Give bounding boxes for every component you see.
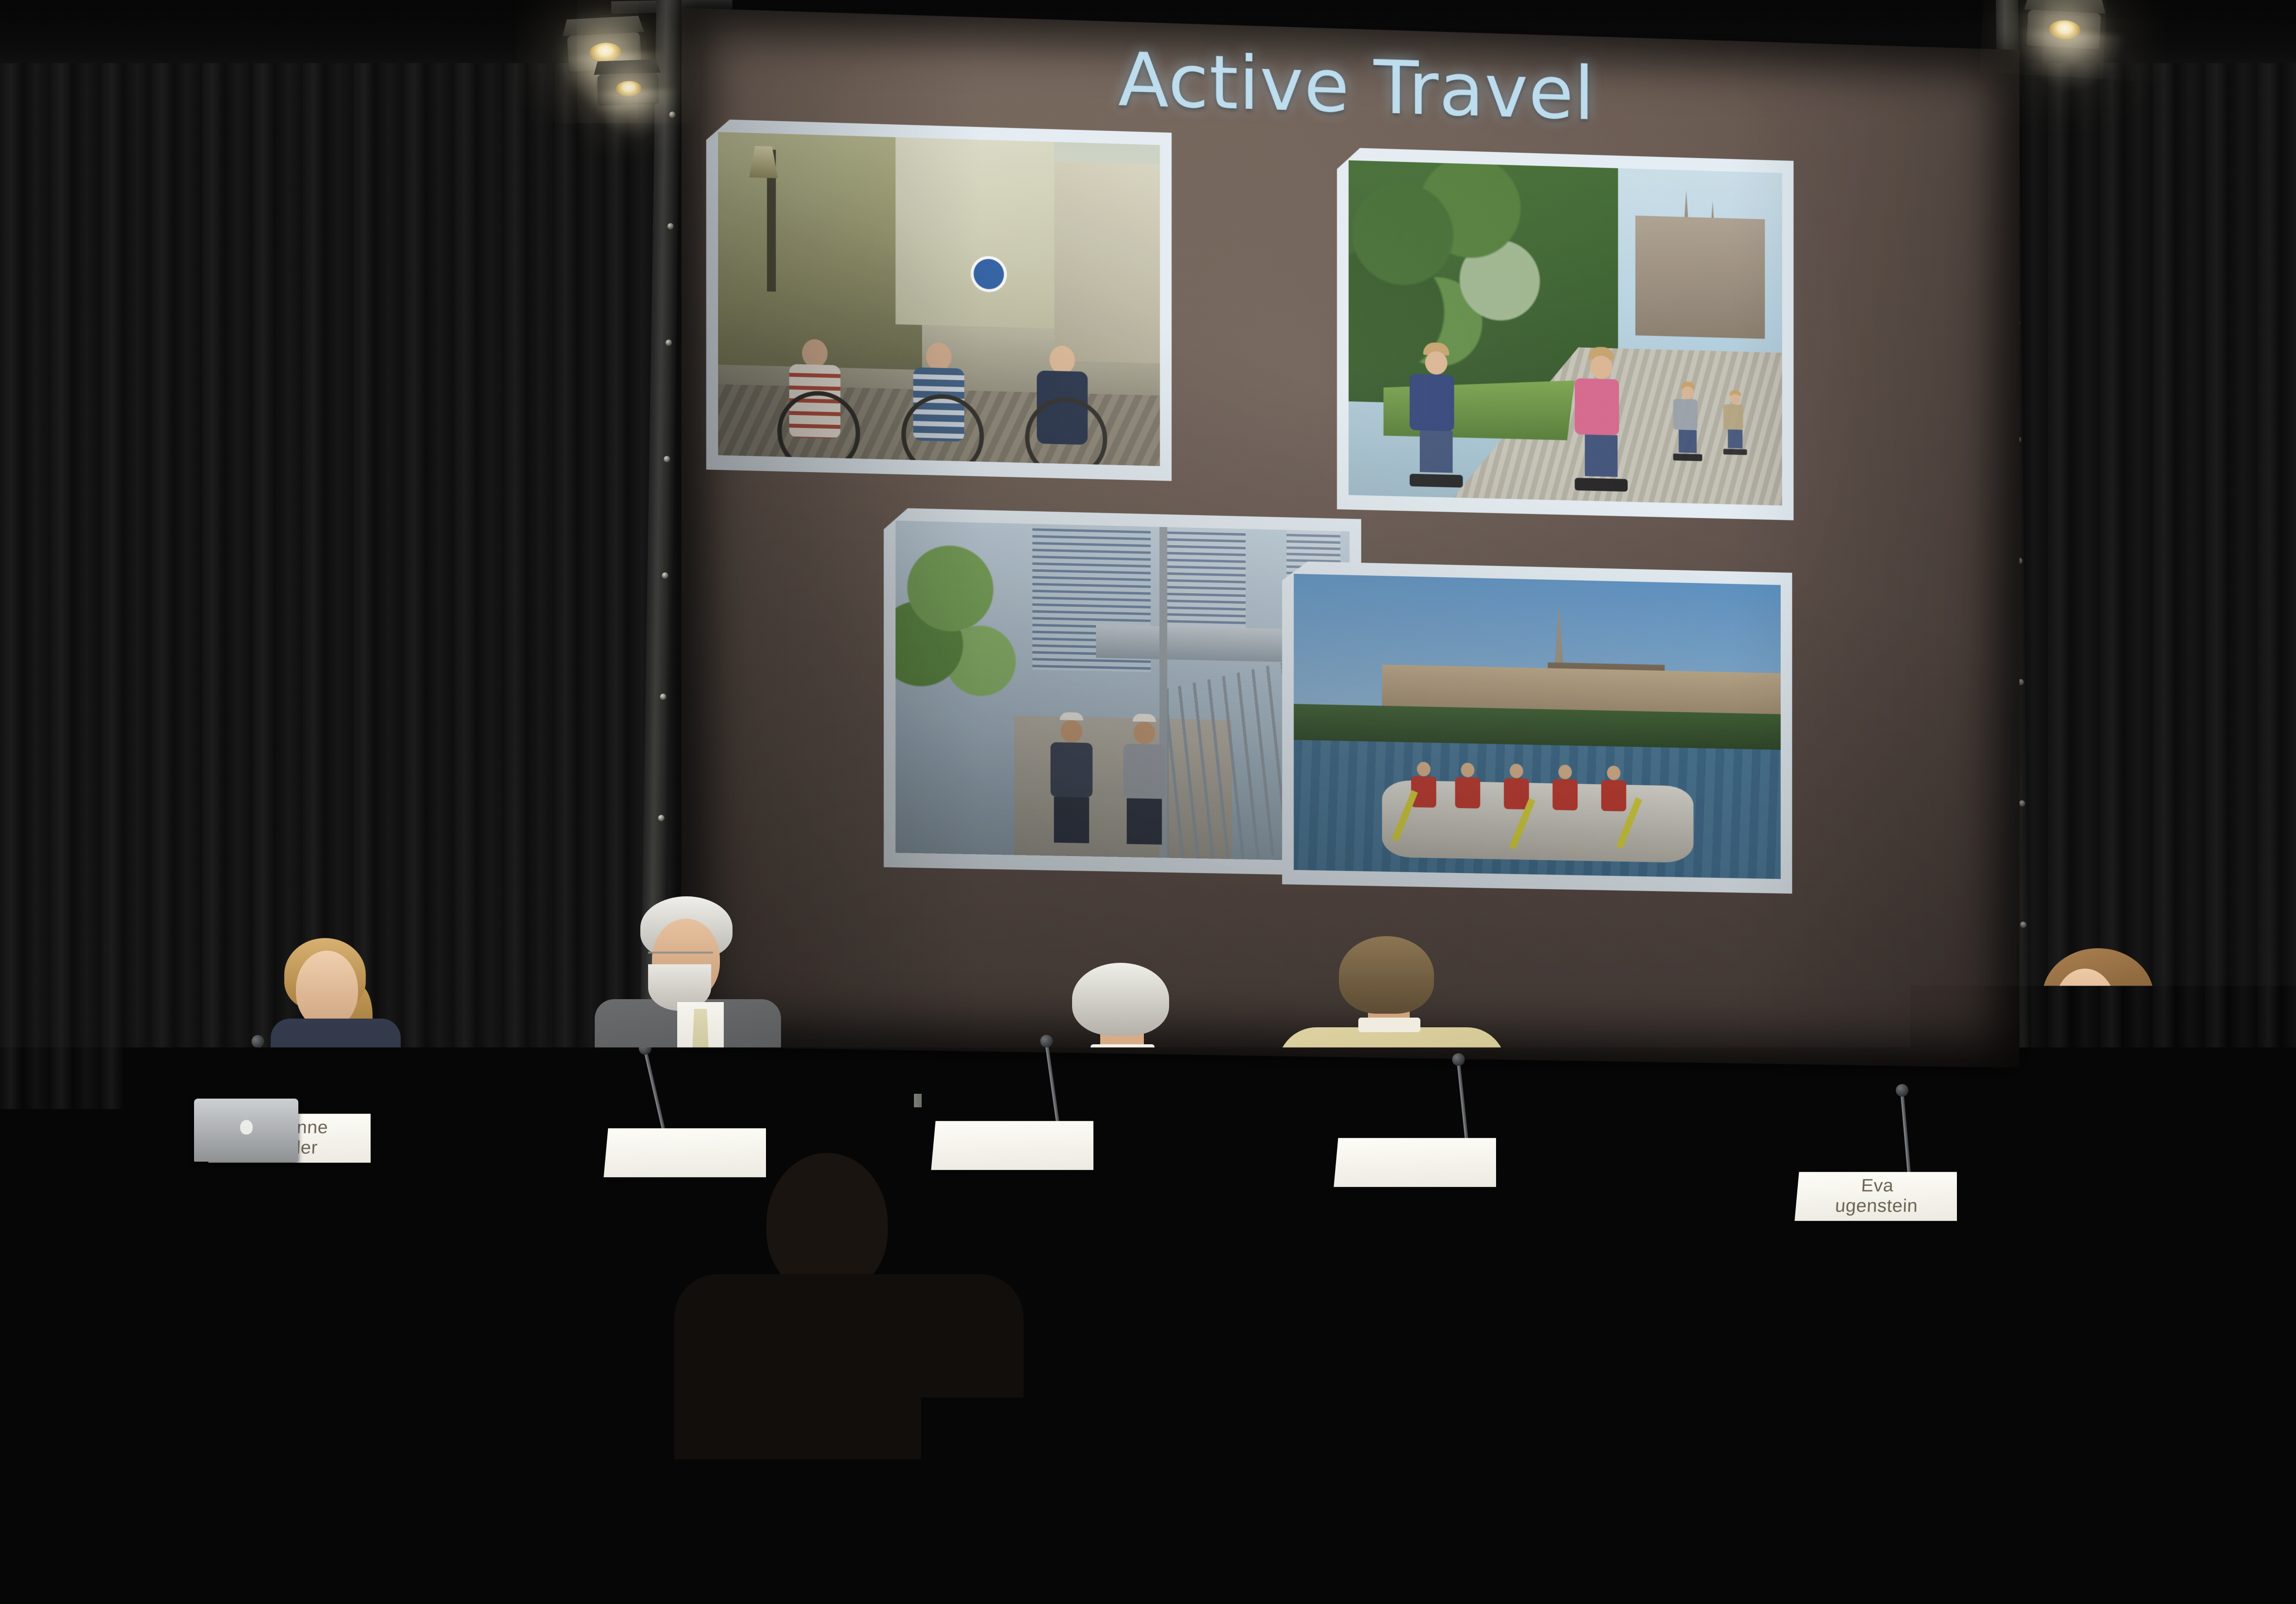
conference-stage-scene: Active Travel [0,0,2296,1604]
slide-photo-segway [1337,147,1793,520]
projection-screen: Active Travel [682,8,2019,1068]
house-shadow [0,1444,2296,1604]
nameplate-line-1: Eva [1861,1176,1894,1196]
slide-photo-rafting [1282,561,1792,893]
name-badge [718,1135,772,1157]
nameplate-line-2: ugenstein [1834,1196,1918,1216]
nameplate-speaker-5: Eva ugenstein [1794,1172,1957,1221]
stage-spotlight-right [2026,0,2106,49]
stage-spotlight-left-secondary [597,61,662,104]
apple-logo-icon [240,1120,253,1134]
slide-photo-cyclists [706,119,1172,481]
